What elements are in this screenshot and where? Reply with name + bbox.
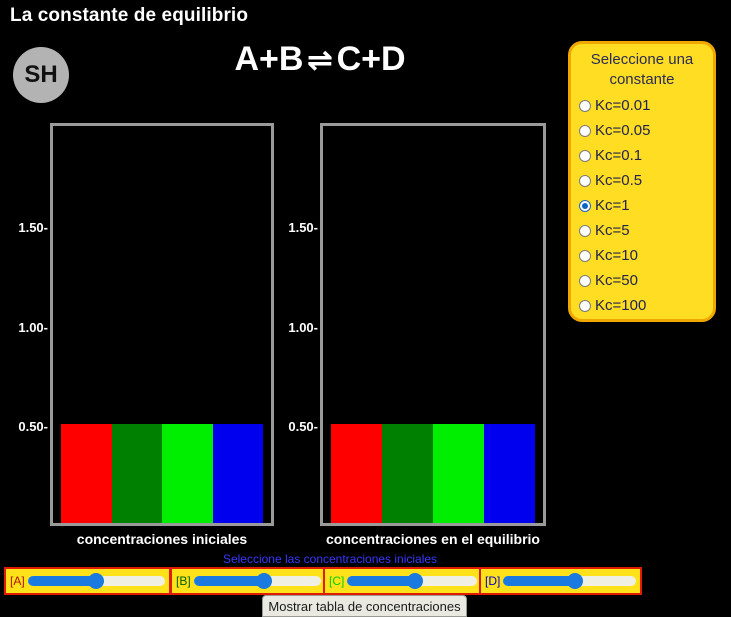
radio-icon[interactable] (579, 275, 591, 287)
kc-option-kc-10[interactable]: Kc=10 (571, 243, 713, 268)
ytick-label-initial-1: 1.00- (2, 320, 48, 335)
radio-icon[interactable] (579, 125, 591, 137)
radio-icon[interactable] (579, 200, 591, 212)
initial-bar-a (61, 424, 112, 523)
slider-row-b[interactable]: [B] (170, 567, 327, 595)
equilibrium-bar-d (484, 424, 535, 523)
slider-thumb[interactable] (88, 573, 104, 589)
chart-initial-concentrations (50, 123, 274, 526)
kc-option-label: Kc=0.05 (595, 122, 650, 139)
kc-option-label: Kc=0.1 (595, 147, 642, 164)
kc-option-kc-0-1[interactable]: Kc=0.1 (571, 143, 713, 168)
radio-icon[interactable] (579, 300, 591, 312)
slider-row-d[interactable]: [D] (479, 567, 642, 595)
kc-option-label: Kc=0.01 (595, 97, 650, 114)
ytick-label-equilibrium-2: 0.50- (272, 419, 318, 434)
app-root: La constante de equilibrio SH A+B⇌C+D Se… (0, 0, 731, 608)
slider-thumb[interactable] (256, 573, 272, 589)
radio-icon[interactable] (579, 175, 591, 187)
page-title: La constante de equilibrio (10, 5, 248, 27)
equation-products: C+D (337, 40, 406, 78)
slider-hint-text: Seleccione las concentraciones iniciales (0, 552, 660, 566)
bar-group-equilibrium (331, 126, 535, 523)
ytick-label-equilibrium-1: 1.00- (272, 320, 318, 335)
equation-reactants: A+B (234, 40, 303, 78)
kc-option-label: Kc=10 (595, 247, 638, 264)
slider-label-a: [A] (10, 574, 25, 588)
ytick-label-initial-0: 1.50- (2, 220, 48, 235)
slider-track[interactable] (194, 576, 321, 586)
equilibrium-bar-b (382, 424, 433, 523)
chart-caption-equilibrium: concentraciones en el equilibrio (310, 531, 556, 547)
equilibrium-arrow-icon: ⇌ (303, 44, 336, 77)
slider-fill (503, 576, 575, 586)
radio-icon[interactable] (579, 100, 591, 112)
kc-option-label: Kc=1 (595, 197, 630, 214)
slider-label-b: [B] (176, 574, 191, 588)
chart-caption-initial: concentraciones iniciales (50, 531, 274, 547)
show-table-button[interactable]: Mostrar tabla de concentraciones (262, 595, 467, 617)
sh-logo: SH (13, 47, 69, 103)
slider-row-c[interactable]: [C] (323, 567, 483, 595)
kc-option-label: Kc=50 (595, 272, 638, 289)
kc-option-kc-0-5[interactable]: Kc=0.5 (571, 168, 713, 193)
kc-option-label: Kc=100 (595, 297, 646, 314)
kc-selector-panel: Seleccione una constante Kc=0.01Kc=0.05K… (568, 41, 716, 322)
kc-option-label: Kc=5 (595, 222, 630, 239)
logo-text: SH (24, 61, 57, 89)
initial-bar-b (112, 424, 163, 523)
initial-bar-d (213, 424, 264, 523)
radio-icon[interactable] (579, 225, 591, 237)
kc-option-kc-0-01[interactable]: Kc=0.01 (571, 93, 713, 118)
kc-panel-title: Seleccione una constante (571, 50, 713, 90)
slider-fill (28, 576, 97, 586)
radio-icon[interactable] (579, 150, 591, 162)
plot-area-equilibrium (323, 126, 543, 523)
kc-option-list: Kc=0.01Kc=0.05Kc=0.1Kc=0.5Kc=1Kc=5Kc=10K… (571, 93, 713, 318)
slider-fill (194, 576, 264, 586)
slider-track[interactable] (28, 576, 165, 586)
plot-area-initial (53, 126, 271, 523)
slider-label-d: [D] (485, 574, 500, 588)
reaction-equation: A+B⇌C+D (205, 40, 435, 79)
slider-thumb[interactable] (407, 573, 423, 589)
kc-option-label: Kc=0.5 (595, 172, 642, 189)
equilibrium-bar-a (331, 424, 382, 523)
kc-option-kc-50[interactable]: Kc=50 (571, 268, 713, 293)
slider-label-c: [C] (329, 574, 344, 588)
kc-option-kc-100[interactable]: Kc=100 (571, 293, 713, 318)
slider-fill (347, 576, 414, 586)
kc-option-kc-0-05[interactable]: Kc=0.05 (571, 118, 713, 143)
initial-bar-c (162, 424, 213, 523)
equilibrium-bar-c (433, 424, 484, 523)
chart-equilibrium-concentrations (320, 123, 546, 526)
kc-option-kc-1[interactable]: Kc=1 (571, 193, 713, 218)
slider-track[interactable] (347, 576, 477, 586)
ytick-label-initial-2: 0.50- (2, 419, 48, 434)
bar-group-initial (61, 126, 263, 523)
kc-option-kc-5[interactable]: Kc=5 (571, 218, 713, 243)
slider-row-a[interactable]: [A] (4, 567, 171, 595)
slider-track[interactable] (503, 576, 636, 586)
ytick-label-equilibrium-0: 1.50- (272, 220, 318, 235)
slider-thumb[interactable] (567, 573, 583, 589)
radio-icon[interactable] (579, 250, 591, 262)
